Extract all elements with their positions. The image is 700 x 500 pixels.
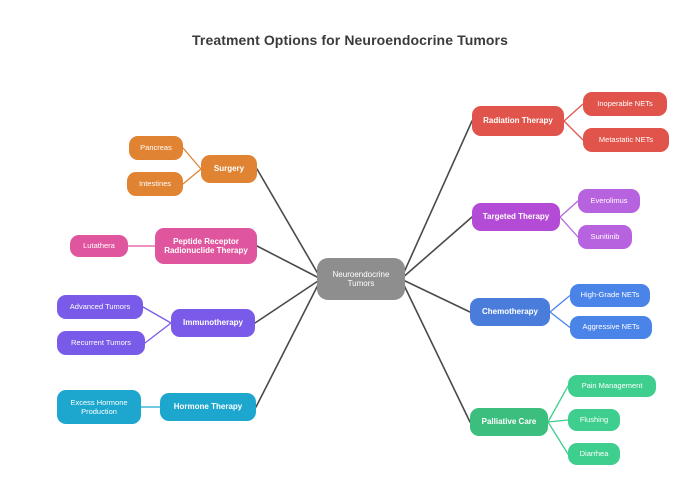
edge-targeted-therapy-to-sunitinib xyxy=(560,217,578,237)
leaf-node-flushing[interactable]: Flushing xyxy=(568,409,620,431)
edge-central-to-hormone-therapy xyxy=(256,279,321,407)
edge-palliative-care-to-diarrhea xyxy=(548,422,568,454)
edge-immunotherapy-to-advanced-tumors xyxy=(143,307,171,323)
leaf-node-everolimus[interactable]: Everolimus xyxy=(578,189,640,213)
leaf-node-inoperable-nets[interactable]: Inoperable NETs xyxy=(583,92,667,116)
central-node[interactable]: Neuroendocrine Tumors xyxy=(317,258,405,300)
leaf-node-diarrhea[interactable]: Diarrhea xyxy=(568,443,620,465)
leaf-node-lutathera[interactable]: Lutathera xyxy=(70,235,128,257)
edge-surgery-to-pancreas xyxy=(183,148,201,169)
edge-radiation-therapy-to-metastatic-nets xyxy=(564,121,583,140)
edge-palliative-care-to-flushing xyxy=(548,420,568,422)
edge-targeted-therapy-to-everolimus xyxy=(560,201,578,217)
leaf-node-aggressive-nets[interactable]: Aggressive NETs xyxy=(570,316,652,339)
edge-immunotherapy-to-recurrent-tumors xyxy=(145,323,171,343)
branch-node-immunotherapy[interactable]: Immunotherapy xyxy=(171,309,255,337)
leaf-node-pain-management[interactable]: Pain Management xyxy=(568,375,656,397)
edge-radiation-therapy-to-inoperable-nets xyxy=(564,104,583,121)
leaf-node-sunitinib[interactable]: Sunitinib xyxy=(578,225,632,249)
leaf-node-excess-hormone-production[interactable]: Excess Hormone Production xyxy=(57,390,141,424)
edge-central-to-chemotherapy xyxy=(401,279,470,312)
branch-node-peptide-receptor-radionuclide-therapy[interactable]: Peptide Receptor Radionuclide Therapy xyxy=(155,228,257,264)
edge-central-to-radiation-therapy xyxy=(401,121,472,279)
leaf-node-pancreas[interactable]: Pancreas xyxy=(129,136,183,160)
leaf-node-intestines[interactable]: Intestines xyxy=(127,172,183,196)
branch-node-radiation-therapy[interactable]: Radiation Therapy xyxy=(472,106,564,136)
edge-central-to-palliative-care xyxy=(401,279,470,422)
edge-chemotherapy-to-aggressive-nets xyxy=(550,312,570,328)
edge-central-to-immunotherapy xyxy=(255,279,321,323)
mindmap-canvas: Treatment Options for Neuroendocrine Tum… xyxy=(0,0,700,500)
edge-chemotherapy-to-high-grade-nets xyxy=(550,296,570,313)
edge-palliative-care-to-pain-management xyxy=(548,386,568,422)
branch-node-targeted-therapy[interactable]: Targeted Therapy xyxy=(472,203,560,231)
leaf-node-metastatic-nets[interactable]: Metastatic NETs xyxy=(583,128,669,152)
edge-surgery-to-intestines xyxy=(183,169,201,184)
leaf-node-advanced-tumors[interactable]: Advanced Tumors xyxy=(57,295,143,319)
branch-node-palliative-care[interactable]: Palliative Care xyxy=(470,408,548,436)
leaf-node-recurrent-tumors[interactable]: Recurrent Tumors xyxy=(57,331,145,355)
branch-node-chemotherapy[interactable]: Chemotherapy xyxy=(470,298,550,326)
edge-central-to-targeted-therapy xyxy=(401,217,472,279)
page-title: Treatment Options for Neuroendocrine Tum… xyxy=(0,32,700,48)
branch-node-surgery[interactable]: Surgery xyxy=(201,155,257,183)
branch-node-hormone-therapy[interactable]: Hormone Therapy xyxy=(160,393,256,421)
edge-central-to-peptide-receptor-radionuclide-therapy xyxy=(257,246,321,279)
leaf-node-high-grade-nets[interactable]: High-Grade NETs xyxy=(570,284,650,307)
edge-central-to-surgery xyxy=(257,169,321,279)
